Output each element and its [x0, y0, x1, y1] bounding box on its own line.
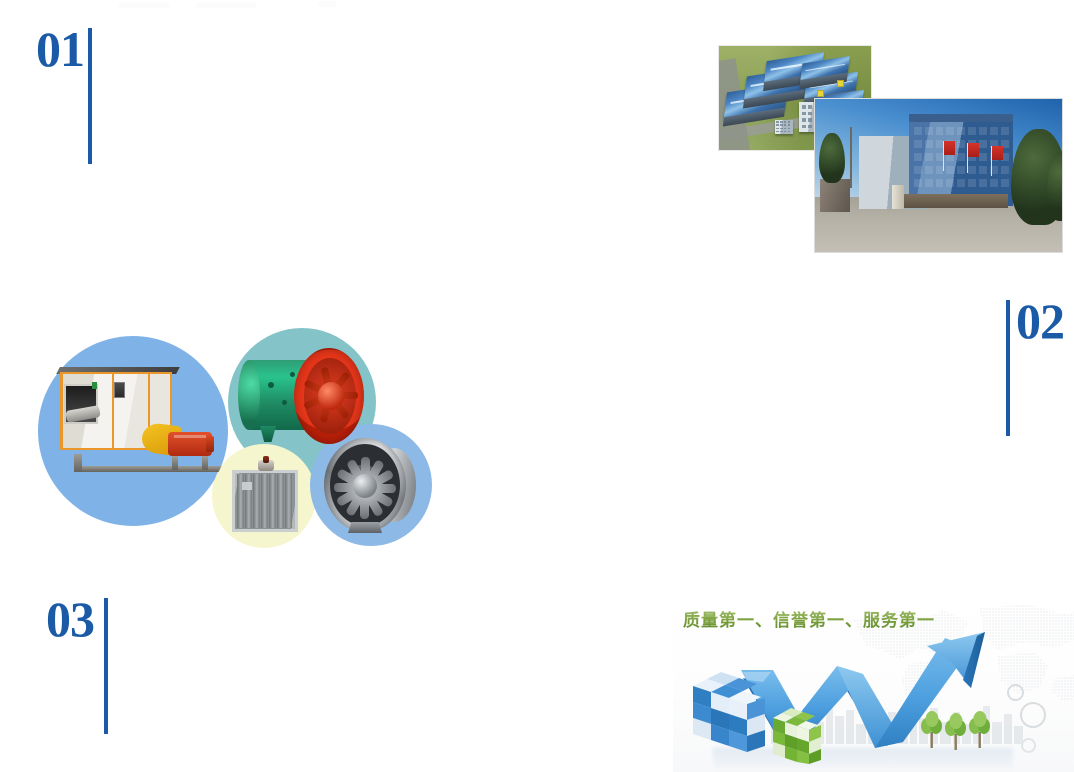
- photo-window: [936, 127, 944, 135]
- photo-window: [979, 140, 987, 148]
- damper-blade-5: [269, 474, 276, 528]
- photo-window: [979, 179, 987, 187]
- green-white-rubik-cube: [771, 706, 831, 764]
- photo-window: [968, 179, 976, 187]
- photo-window: [957, 127, 965, 135]
- tree-1: [921, 710, 943, 750]
- render-office-block-2: [775, 120, 793, 134]
- growth-chart-graphic: 质量第一、信誉第一、服务第一: [673, 598, 1074, 772]
- section-marker-03: 03: [46, 596, 108, 734]
- blue-white-rubik-cube: [691, 670, 779, 754]
- section-number-03: 03: [46, 596, 94, 642]
- cabinet-fan-product: [56, 362, 226, 492]
- bubble-small: [1007, 684, 1024, 701]
- photo-window: [1001, 179, 1009, 187]
- photo-window: [957, 179, 965, 187]
- section-marker-02: 02: [1006, 298, 1064, 436]
- photo-window: [1001, 127, 1009, 135]
- red-flag-2: [968, 143, 979, 157]
- bubble-large: [1020, 702, 1046, 728]
- photo-window: [957, 166, 965, 174]
- photo-window: [925, 166, 933, 174]
- tree-2: [945, 712, 967, 752]
- photo-gate-pillar: [892, 185, 904, 209]
- photo-window: [957, 140, 965, 148]
- cabinet-fan-motor-end-cap: [206, 436, 214, 452]
- photo-window: [914, 153, 922, 161]
- cabinet-fan-leg-1: [74, 454, 82, 472]
- brochure-page: 01 02 03: [0, 0, 1074, 772]
- tree-3: [969, 710, 991, 750]
- photo-window: [946, 127, 954, 135]
- photo-tree-3: [819, 133, 845, 183]
- photo-window: [914, 127, 922, 135]
- red-flag-1: [944, 141, 955, 155]
- cabinet-fan-base-rail: [79, 466, 222, 472]
- silver-fan-hub: [353, 474, 377, 498]
- photo-window: [946, 166, 954, 174]
- section-rule-02: [1006, 300, 1010, 436]
- photo-window: [979, 153, 987, 161]
- photo-window: [914, 179, 922, 187]
- damper-label-plate: [242, 482, 252, 490]
- photo-window: [914, 140, 922, 148]
- section-rule-03: [104, 598, 108, 734]
- photo-window: [968, 166, 976, 174]
- cabinet-fan-indicator-lamp: [92, 382, 97, 389]
- photo-window: [946, 179, 954, 187]
- photo-window: [925, 127, 933, 135]
- photo-window: [936, 179, 944, 187]
- photo-building-cornice: [909, 114, 1013, 122]
- photo-window: [925, 153, 933, 161]
- top-artifact-1: [118, 2, 170, 8]
- photo-window: [990, 179, 998, 187]
- axial-fan-support-foot: [260, 426, 276, 442]
- section-number-02: 02: [1016, 298, 1064, 344]
- damper-blade-4: [261, 474, 268, 528]
- photo-window: [979, 166, 987, 174]
- office-building-photo: [814, 98, 1063, 253]
- photo-front-wall: [899, 194, 1008, 208]
- cabinet-fan-leg-3: [202, 456, 208, 470]
- photo-window: [957, 153, 965, 161]
- company-slogan: 质量第一、信誉第一、服务第一: [683, 606, 935, 631]
- axial-fan-port-1: [268, 382, 274, 388]
- axial-fan-casing-end: [238, 360, 260, 430]
- bubble-tiny: [1021, 738, 1036, 753]
- silver-fan-mounting-foot: [348, 522, 382, 533]
- cabinet-fan-leg-2: [172, 456, 178, 470]
- axial-fan-port-3: [290, 372, 295, 377]
- top-artifact-3: [318, 1, 336, 7]
- photo-window: [1001, 166, 1009, 174]
- photo-window: [968, 127, 976, 135]
- air-damper-product: [230, 456, 302, 536]
- photo-window: [979, 127, 987, 135]
- cabinet-fan-control-box: [114, 382, 125, 398]
- photo-guard-booth: [820, 179, 850, 213]
- top-artifact-2: [196, 2, 256, 8]
- photo-window: [990, 127, 998, 135]
- section-rule-01: [88, 28, 92, 164]
- photo-light-pole: [850, 127, 852, 188]
- axial-fan-hub: [318, 382, 344, 410]
- damper-actuator-knob: [263, 456, 269, 463]
- damper-blade-7: [285, 474, 292, 528]
- photo-window: [925, 179, 933, 187]
- product-collage: [38, 328, 418, 548]
- damper-blade-6: [277, 474, 284, 528]
- section-number-01: 01: [36, 26, 84, 72]
- red-flag-3: [992, 146, 1003, 160]
- photo-window: [914, 166, 922, 174]
- section-marker-01: 01: [36, 26, 92, 164]
- silver-axial-fan-product: [320, 436, 424, 536]
- damper-blade-3: [253, 474, 260, 528]
- photo-window: [925, 140, 933, 148]
- axial-fan-port-2: [282, 400, 287, 405]
- render-marker-2: [817, 90, 824, 97]
- render-marker-1: [837, 80, 844, 87]
